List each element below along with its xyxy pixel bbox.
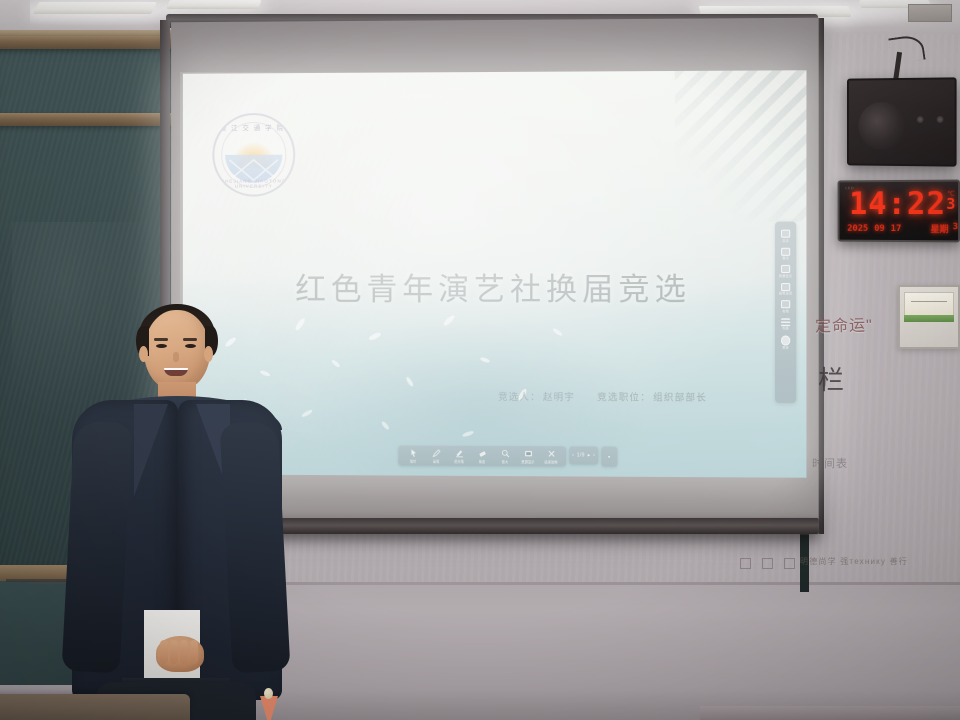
play-icon[interactable]: ▸ <box>588 452 591 458</box>
speaker-tweeter <box>917 116 924 123</box>
toolbar-extra-button[interactable]: ▪ <box>601 447 617 467</box>
slide-subtitle: 竞选人： 赵明宇 竞选职位： 组织部部长 <box>498 389 790 404</box>
flower-stem <box>260 696 278 720</box>
sidebar-item-layout[interactable]: 布局 <box>775 297 795 313</box>
presenter-lapel-left <box>134 404 168 496</box>
clock-weekday-label: 星期 <box>930 222 948 235</box>
more-icon <box>781 335 791 345</box>
clock-temp-unit: ℃ <box>947 190 955 198</box>
pointer-icon <box>409 449 418 458</box>
subtitle-candidate-value: 赵明宇 <box>543 389 575 403</box>
sidebar-label: 同屏显示 <box>779 273 792 277</box>
notice-frame-green-band <box>904 315 954 322</box>
sidebar-label: 列表 <box>782 326 789 330</box>
toolbar-label: 放大 <box>502 459 509 464</box>
clock-date-row: 2025 09 17 星期 3 <box>847 222 958 235</box>
clock-day: 17 <box>891 223 902 233</box>
sidebar-item-more[interactable]: 更多 <box>775 332 795 349</box>
blackboard-rail <box>0 36 200 49</box>
wall-column-text: 栏 <box>818 360 846 397</box>
presenter-eyebrow <box>154 338 168 341</box>
blackboard-rail <box>0 113 200 126</box>
subtitle-position-label: 竞选职位： <box>597 389 651 403</box>
toolbar-label: 橡皮 <box>479 459 486 464</box>
sidebar-label: 画笔设置 <box>779 291 792 295</box>
toolbar-label: 黑屏显示 <box>521 459 534 464</box>
presenter-toolbar[interactable]: 指针 画笔 荧光笔 <box>398 446 617 467</box>
clock-month: 09 <box>874 223 885 233</box>
toolbar-tools-group[interactable]: 指针 画笔 荧光笔 <box>398 446 566 467</box>
presenter-eye <box>156 344 167 348</box>
layout-icon <box>781 300 790 308</box>
sidebar-label: 布局 <box>782 309 789 313</box>
subtitle-candidate-label: 竞选人： <box>498 389 541 403</box>
notice-frame-board <box>898 285 960 349</box>
speaker-woofer <box>858 102 904 150</box>
toolbar-page-nav[interactable]: ‹ 1/9 ▸ › <box>569 446 598 464</box>
wall-square-marker <box>784 558 795 569</box>
prev-page-icon[interactable]: ‹ <box>572 452 574 458</box>
presenter-sidebar[interactable]: 高清 备注 同屏显示 画笔设置 布局 <box>775 222 796 404</box>
clock-hhmm: 14:22 <box>849 186 946 222</box>
wall-speaker <box>847 77 957 166</box>
toolbar-pointer-button[interactable]: 指针 <box>402 449 424 464</box>
sidebar-label: 高清 <box>782 238 789 242</box>
hd-icon <box>781 230 790 238</box>
presenter-finger <box>190 640 198 664</box>
presenter-person <box>60 300 290 720</box>
zoom-icon <box>500 449 509 458</box>
podium-desk <box>0 694 190 720</box>
sidebar-item-pen[interactable]: 画笔设置 <box>775 280 795 296</box>
toolbar-label: 指针 <box>410 459 417 464</box>
presenter-head <box>144 310 210 390</box>
sidebar-item-screen[interactable]: 同屏显示 <box>775 262 795 278</box>
wall-motto-text: 明德尚学 强технику 善行 <box>800 556 908 567</box>
flower-bud <box>264 688 273 699</box>
toolbar-eraser-button[interactable]: 橡皮 <box>471 449 493 464</box>
next-page-icon[interactable]: › <box>593 452 595 458</box>
subtitle-position-value: 组织部部长 <box>653 389 707 403</box>
pen-icon <box>432 449 441 458</box>
close-icon <box>547 449 556 458</box>
presenter-ear <box>139 346 148 362</box>
toolbar-end-show-button[interactable]: 结束放映 <box>540 449 562 464</box>
pen-icon <box>781 283 790 291</box>
sidebar-label: 更多 <box>782 346 789 350</box>
sidebar-item-hd[interactable]: 高清 <box>775 227 795 243</box>
sidebar-item-note[interactable]: 备注 <box>775 244 795 260</box>
presenter-eyebrow <box>183 338 197 341</box>
presenter-eye <box>185 344 196 348</box>
notice-frame-lines <box>911 301 947 304</box>
university-seal-logo: 浙江交通学院 ZHEJIANG JIAOTONG UNIVERSITY <box>212 113 295 197</box>
toolbar-highlighter-button[interactable]: 荧光笔 <box>448 449 470 464</box>
decorative-flower <box>256 688 278 720</box>
toolbar-label: 画笔 <box>433 459 440 464</box>
toolbar-zoom-button[interactable]: 放大 <box>494 449 516 464</box>
clock-weekday-value: 3 <box>953 222 958 235</box>
toolbar-label: 结束放映 <box>544 459 557 464</box>
screen-icon <box>781 265 790 273</box>
subtitle-position: 竞选职位： 组织部部长 <box>597 389 707 403</box>
led-wall-clock: LED 14:223 ℃ 2025 09 17 星期 3 <box>838 180 960 243</box>
blackscreen-icon <box>524 449 533 458</box>
ceiling-vent <box>908 4 952 22</box>
fluorescent-tube <box>166 0 261 9</box>
presenter-ear <box>204 346 213 362</box>
wall-square-marker <box>762 558 773 569</box>
clock-time-display: 14:223 <box>849 187 960 221</box>
note-icon <box>781 247 790 255</box>
presenter-finger <box>180 640 188 664</box>
subtitle-candidate: 竞选人： 赵明宇 <box>498 389 575 403</box>
sidebar-label: 备注 <box>782 256 789 260</box>
classroom-scene: 浙江交通学院 ZHEJIANG JIAOTONG UNIVERSITY 红色青年… <box>0 0 960 720</box>
toolbar-label: 荧光笔 <box>454 459 464 464</box>
wall-slogan-text: 定命运" <box>815 311 873 336</box>
sidebar-item-list[interactable]: 列表 <box>775 315 795 331</box>
presenter-finger <box>170 640 178 664</box>
page-indicator: 1/9 <box>577 452 585 458</box>
speaker-tweeter <box>937 116 944 123</box>
eraser-icon <box>478 449 487 458</box>
toolbar-blackscreen-button[interactable]: 黑屏显示 <box>517 449 539 464</box>
seal-en-text: ZHEJIANG JIAOTONG UNIVERSITY <box>214 179 293 189</box>
wall-timetable-text: 时间表 <box>812 455 848 471</box>
fluorescent-tube <box>33 2 157 14</box>
presenter-finger <box>160 640 168 664</box>
clock-year: 2025 <box>847 223 868 233</box>
clock-weekday: 星期 3 <box>930 222 958 235</box>
dot-icon: ▪ <box>608 454 610 460</box>
seal-cn-text: 浙江交通学院 <box>214 122 293 132</box>
slide-dash-pattern <box>675 70 807 221</box>
right-desk-edge <box>700 706 960 720</box>
wall-square-marker <box>740 558 751 569</box>
seal-ring-text: 浙江交通学院 ZHEJIANG JIAOTONG UNIVERSITY <box>214 115 293 195</box>
list-icon <box>781 318 790 326</box>
toolbar-pen-button[interactable]: 画笔 <box>425 449 447 464</box>
highlighter-icon <box>455 449 464 458</box>
presenter-nose <box>173 352 179 362</box>
